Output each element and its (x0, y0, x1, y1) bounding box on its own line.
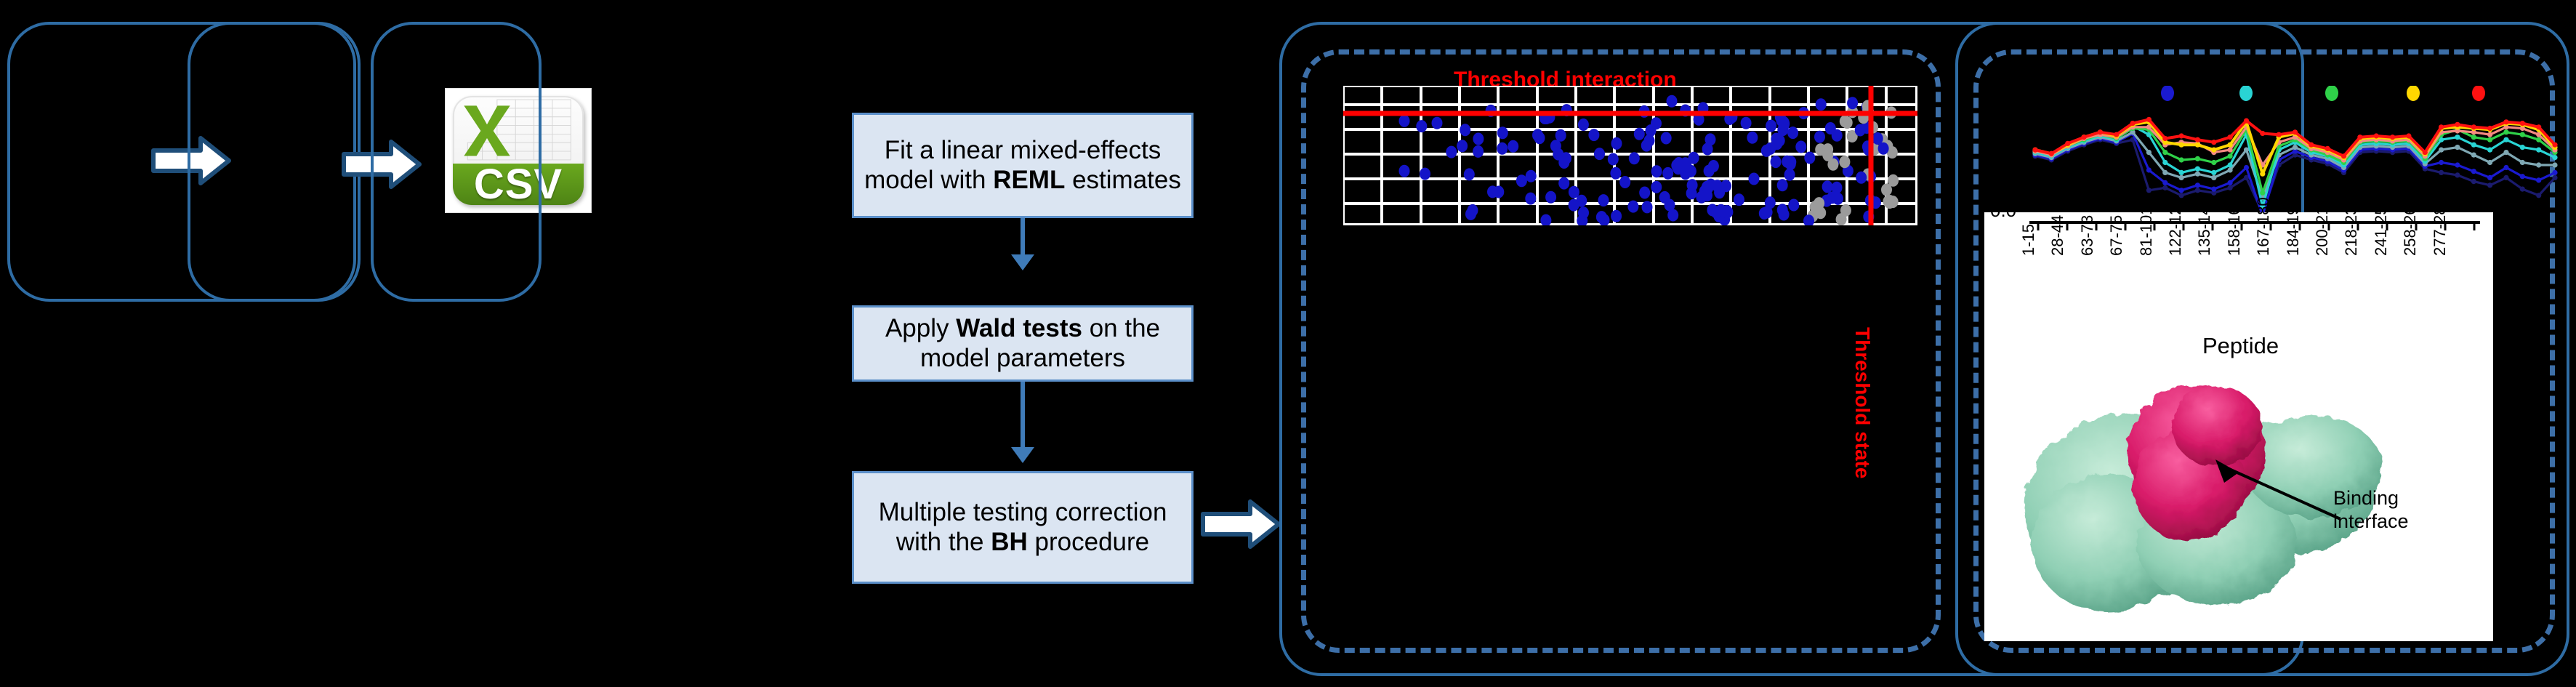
connector-1-arrowhead (1011, 254, 1034, 270)
peptide-tick-label: 1-15 (2019, 224, 2038, 256)
peptide-tick-label: 200-214 (2313, 197, 2332, 256)
peptide-tick-labels: 1-1528-4463-7367-7581-101122-129135-1441… (1984, 212, 2493, 329)
x-axis-title: Peptide (2202, 333, 2279, 359)
peptide-tick-label: 158-166 (2225, 197, 2244, 256)
flow-arrow-2 (1201, 498, 1281, 550)
peptide-tick-label: 167-180 (2254, 197, 2273, 256)
peptide-tick-label: 81-101 (2137, 206, 2156, 256)
peptide-tick-label: 277-284 (2431, 197, 2450, 256)
excel-x-icon (461, 98, 513, 161)
peptide-tick-label: 184-199 (2284, 197, 2303, 256)
threshold-state-label: Threshold state (1851, 327, 1874, 478)
step-fit-model-box: Fit a linear mixed-effects model with RE… (852, 113, 1194, 218)
step-wald-tests-label: Apply Wald tests on the model parameters (861, 314, 1184, 374)
peptide-tick-label: 122-129 (2166, 197, 2185, 256)
binding-interface-annotation: Binding interface (2333, 487, 2409, 534)
peptide-tick-label: 63-73 (2078, 215, 2097, 256)
connector-2-arrowhead (1011, 447, 1034, 463)
volcano-points-plot (1343, 86, 1917, 225)
peptide-tick-label: 258-266 (2401, 197, 2420, 256)
step-fit-model-label: Fit a linear mixed-effects model with RE… (861, 136, 1184, 196)
peptide-tick-label: 218-237 (2342, 197, 2361, 256)
peptide-tick-label: 135-144 (2195, 197, 2214, 256)
statistical-analysis-panel (371, 22, 542, 302)
binding-interface-line2: interface (2333, 510, 2409, 534)
peptide-axis-and-structure-card: 0.0 1-1528-4463-7367-7581-101122-129135-… (1984, 212, 2493, 641)
peptide-tick-label: 28-44 (2048, 215, 2067, 256)
peptide-tick-label: 67-75 (2107, 215, 2126, 256)
connector-2 (1021, 382, 1025, 454)
step-multiple-testing-label: Multiple testing correction with the BH … (861, 498, 1184, 558)
csv-data-panel (188, 22, 361, 302)
binding-interface-line1: Binding (2333, 487, 2409, 510)
peptide-tick-label: 241-257 (2372, 197, 2391, 256)
peptide-line-chart (2006, 86, 2559, 231)
step-wald-tests-box: Apply Wald tests on the model parameters (852, 305, 1194, 382)
step-multiple-testing-box: Multiple testing correction with the BH … (852, 471, 1194, 584)
figure-canvas: CSV Fit a linear mixed-effects model wit… (0, 0, 2576, 687)
